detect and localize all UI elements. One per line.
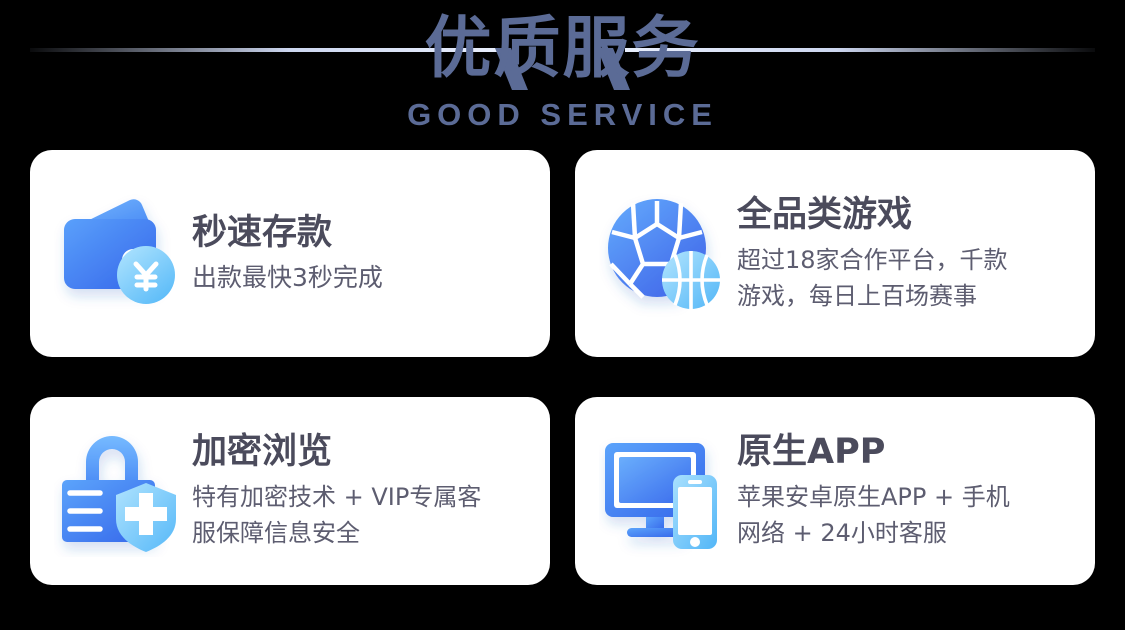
lock-shield-icon: [54, 425, 186, 557]
monitor-phone-icon: [599, 425, 731, 557]
wallet-coin-icon: [54, 188, 186, 320]
feature-card-native-app[interactable]: 原生APP 苹果安卓原生APP + 手机网络 + 24小时客服: [575, 397, 1095, 585]
feature-card-title: 秒速存款: [192, 212, 528, 254]
feature-card-text: 原生APP 苹果安卓原生APP + 手机网络 + 24小时客服: [737, 431, 1073, 551]
feature-card-text: 加密浏览 特有加密技术 + VIP专属客服保障信息安全: [192, 431, 528, 551]
feature-card-title: 加密浏览: [192, 431, 528, 473]
feature-card-title: 全品类游戏: [737, 194, 1073, 236]
feature-card-title: 原生APP: [737, 431, 1073, 473]
feature-card-subtitle: 苹果安卓原生APP + 手机网络 + 24小时客服: [737, 479, 1073, 551]
feature-card-deposit[interactable]: 秒速存款 出款最快3秒完成: [30, 150, 550, 357]
feature-card-text: 全品类游戏 超过18家合作平台，千款游戏，每日上百场赛事: [737, 194, 1073, 314]
feature-card-subtitle: 超过18家合作平台，千款游戏，每日上百场赛事: [737, 242, 1073, 314]
feature-card-subtitle: 特有加密技术 + VIP专属客服保障信息安全: [192, 479, 528, 551]
feature-card-subtitle: 出款最快3秒完成: [192, 260, 528, 296]
page-title: 优质服务: [0, 8, 1125, 88]
feature-card-grid: 秒速存款 出款最快3秒完成: [30, 150, 1095, 585]
feature-card-text: 秒速存款 出款最快3秒完成: [192, 212, 528, 296]
feature-card-encryption[interactable]: 加密浏览 特有加密技术 + VIP专属客服保障信息安全: [30, 397, 550, 585]
feature-card-games[interactable]: 全品类游戏 超过18家合作平台，千款游戏，每日上百场赛事: [575, 150, 1095, 357]
page-subtitle: GOOD SERVICE: [0, 97, 1125, 133]
page-header: 优质服务 GOOD SERVICE: [0, 0, 1125, 145]
soccer-basketball-icon: [599, 188, 731, 320]
